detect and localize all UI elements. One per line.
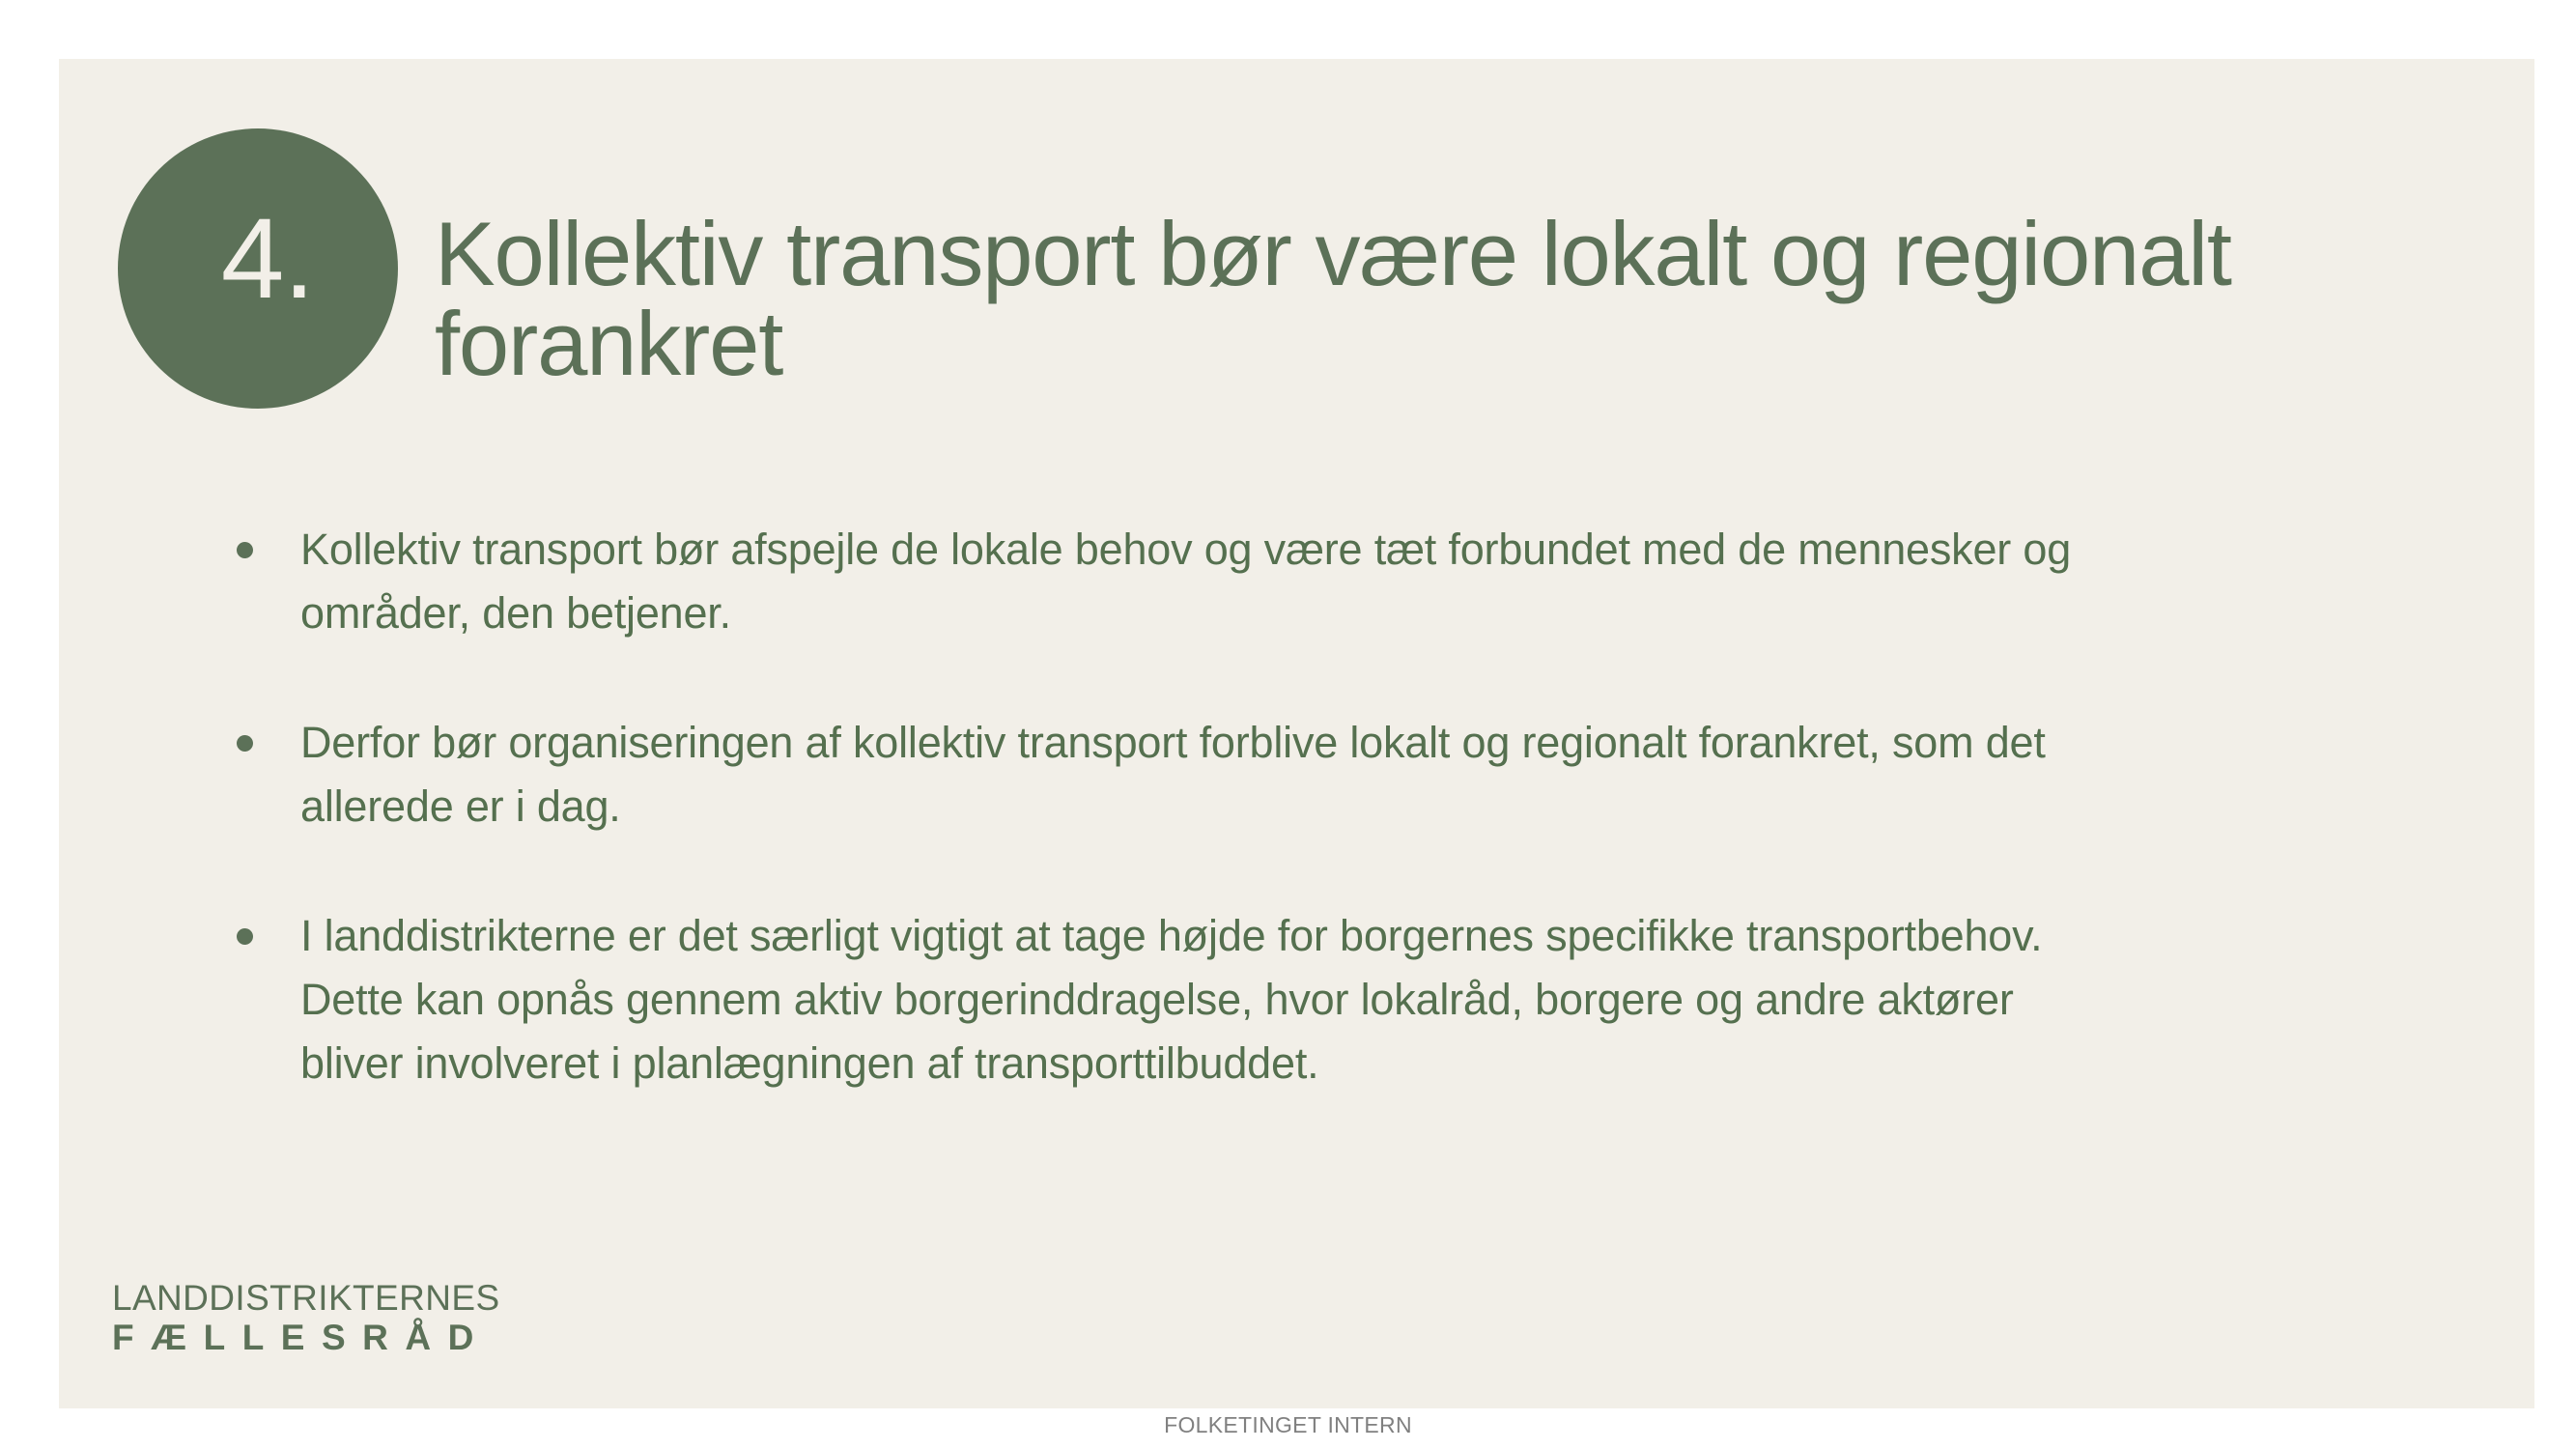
bullet-dot-icon (237, 542, 253, 558)
slide-title: Kollektiv transport bør være lokalt og r… (435, 209, 2475, 388)
bullet-text: I landdistrikterne er det særligt vigtig… (300, 904, 2107, 1095)
classification-footer: FOLKETINGET INTERN (0, 1412, 2576, 1438)
slide-number-label: 4. (221, 202, 314, 316)
bullet-item: Kollektiv transport bør afspejle de loka… (59, 518, 2534, 645)
bullet-text: Kollektiv transport bør afspejle de loka… (300, 518, 2107, 645)
bullet-item: I landdistrikterne er det særligt vigtig… (59, 904, 2534, 1095)
slide-number-badge: 4. (118, 128, 398, 409)
bullet-item: Derfor bør organiseringen af kollektiv t… (59, 711, 2534, 838)
logo-line-secondary: FÆLLESRÅD (112, 1318, 566, 1358)
slide-header: 4. Kollektiv transport bør være lokalt o… (59, 59, 2534, 445)
bullet-dot-icon (237, 735, 253, 752)
bullet-text: Derfor bør organiseringen af kollektiv t… (300, 711, 2107, 838)
slide-body-content: Kollektiv transport bør afspejle de loka… (59, 474, 2534, 1139)
bullet-dot-icon (237, 928, 253, 945)
presentation-slide: 4. Kollektiv transport bør være lokalt o… (59, 59, 2534, 1408)
organization-logo: LANDDISTRIKTERNES FÆLLESRÅD (112, 1279, 566, 1358)
logo-line-primary: LANDDISTRIKTERNES (112, 1279, 566, 1318)
